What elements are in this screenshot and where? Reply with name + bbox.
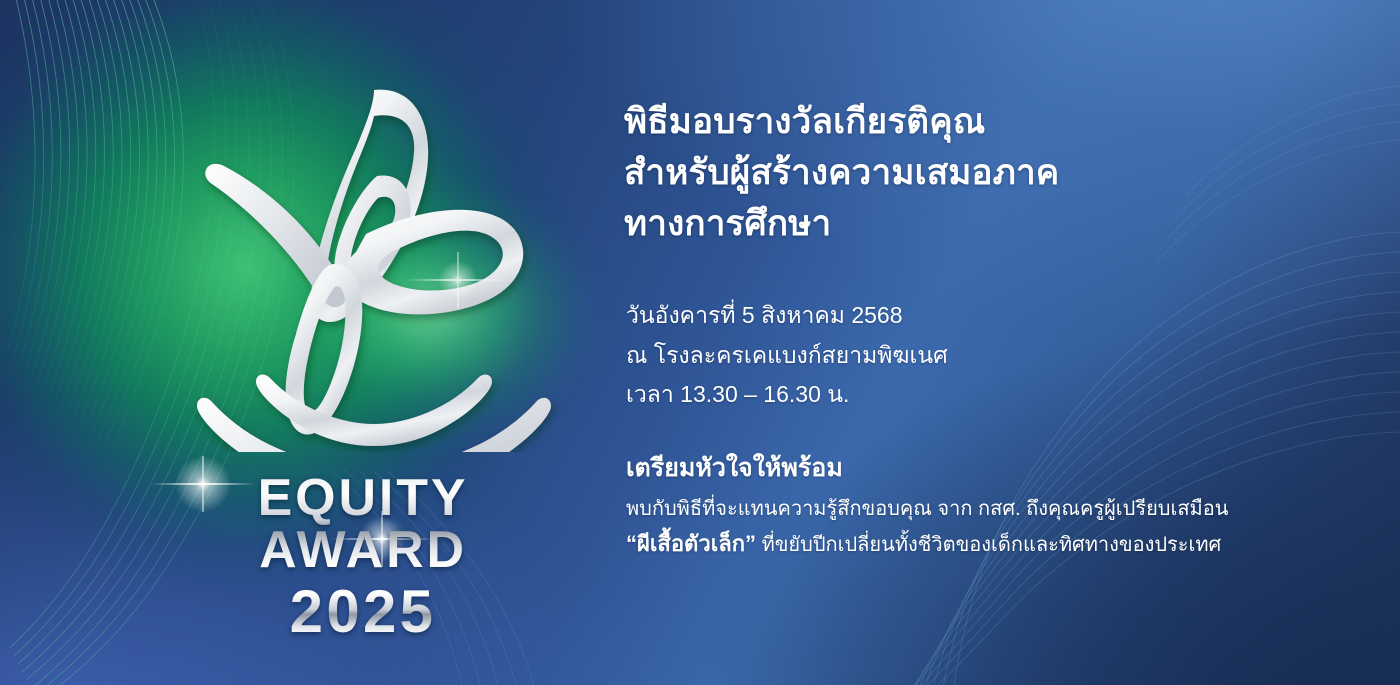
- headline-line-2: สำหรับผู้สร้างความเสมอภาค: [624, 147, 1059, 198]
- event-headline: พิธีมอบรางวัลเกียรติคุณ สำหรับผู้สร้างคว…: [624, 96, 1059, 249]
- event-info-column: พิธีมอบรางวัลเกียรติคุณ สำหรับผู้สร้างคว…: [624, 0, 1364, 685]
- equity-award-butterfly-emblem: [178, 72, 568, 452]
- event-date: วันอังคารที่ 5 สิงหาคม 2568: [626, 296, 948, 336]
- event-details: วันอังคารที่ 5 สิงหาคม 2568 ณ โรงละครเคแ…: [626, 296, 948, 415]
- cta-quote-rest: ที่ขยับปีกเปลี่ยนทั้งชีวิตของเด็กและทิศท…: [756, 534, 1221, 556]
- wordmark-line-equity-award: EQUITY AWARD: [163, 472, 563, 576]
- equity-award-wordmark: EQUITY AWARD 2025: [163, 472, 563, 642]
- cta-quote: “ผีเสื้อตัวเล็ก”: [626, 531, 756, 556]
- cta-description-line-1: พบกับพิธีที่จะแทนความรู้สึกขอบคุณ จาก กส…: [626, 495, 1228, 525]
- wordmark-line-year: 2025: [163, 582, 563, 642]
- headline-line-3: ทางการศึกษา: [624, 198, 1059, 249]
- cta-description-line-2: “ผีเสื้อตัวเล็ก” ที่ขยับปีกเปลี่ยนทั้งชี…: [626, 528, 1228, 561]
- cta-title: เตรียมหัวใจให้พร้อม: [626, 452, 1228, 485]
- event-venue: ณ โรงละครเคแบงก์สยามพิฆเนศ: [626, 336, 948, 376]
- event-call-to-action: เตรียมหัวใจให้พร้อม พบกับพิธีที่จะแทนควา…: [626, 452, 1228, 561]
- headline-line-1: พิธีมอบรางวัลเกียรติคุณ: [624, 96, 1059, 147]
- event-time: เวลา 13.30 – 16.30 น.: [626, 375, 948, 415]
- equity-award-2025-banner: EQUITY AWARD 2025 พิธีมอบรางวัลเกียรติคุ…: [0, 0, 1400, 685]
